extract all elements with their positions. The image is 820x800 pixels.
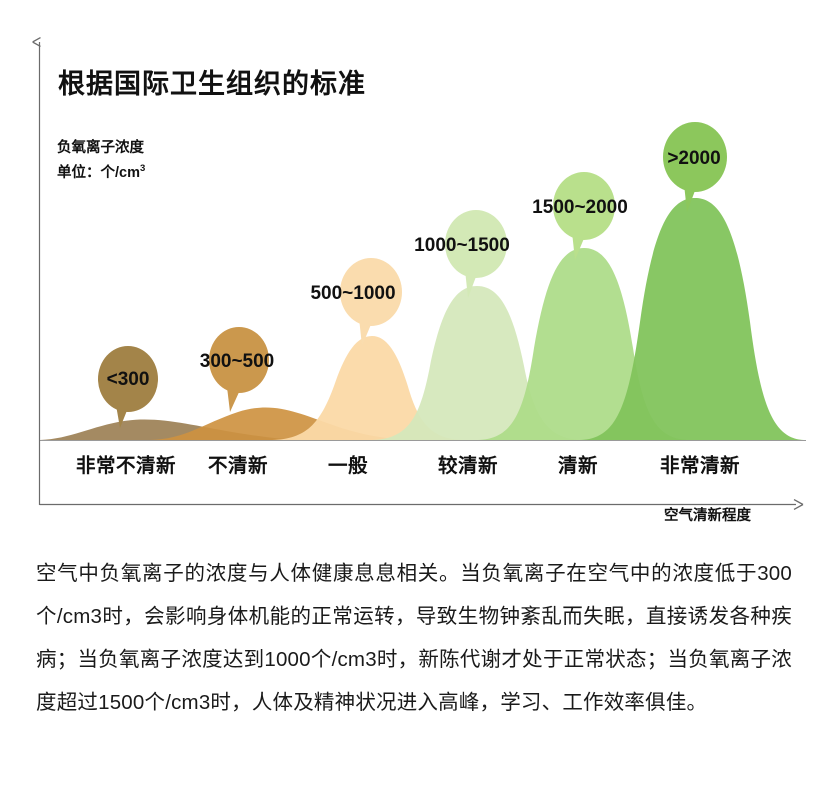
chart-container: 根据国际卫生组织的标准 负氧离子浓度 单位：个/cm3 空气清新程度 <300 …	[0, 0, 820, 540]
x-axis-label: 空气清新程度	[664, 504, 751, 525]
y-axis-label: 负氧离子浓度 单位：个/cm3	[57, 136, 145, 186]
bubble-1	[98, 346, 158, 428]
y-axis-unit-prefix: 单位：	[57, 165, 101, 181]
mountain-series	[40, 198, 806, 440]
y-axis-unit-exponent: 3	[140, 163, 145, 174]
bubble-2	[209, 327, 269, 412]
page-title: 根据国际卫生组织的标准	[58, 62, 366, 101]
category-label-4: 较清新	[438, 449, 498, 478]
category-label-1: 非常不清新	[76, 449, 176, 478]
y-axis-unit-value: 个/cm	[101, 165, 141, 181]
category-label-2: 不清新	[208, 449, 268, 478]
y-axis-label-line1: 负氧离子浓度	[57, 136, 145, 161]
description-paragraph: 空气中负氧离子的浓度与人体健康息息相关。当负氧离子在空气中的浓度低于300个/c…	[36, 552, 792, 724]
category-label-3: 一般	[328, 449, 368, 478]
bubble-4	[445, 210, 507, 298]
category-label-6: 非常清新	[660, 449, 740, 478]
bubble-5	[553, 172, 615, 260]
category-label-5: 清新	[558, 449, 598, 478]
y-axis-unit-line: 单位：个/cm3	[57, 161, 145, 186]
bubble-3	[340, 258, 402, 346]
